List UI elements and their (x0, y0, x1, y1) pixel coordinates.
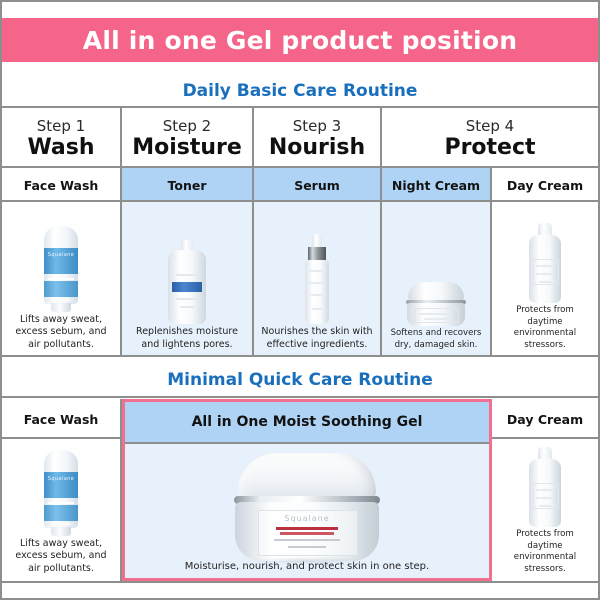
product-name-night-cream: Night Cream (382, 168, 492, 202)
minimal-routine-heading: Minimal Quick Care Routine (2, 364, 598, 398)
daily-routine-heading: Daily Basic Care Routine (2, 76, 598, 108)
daily-section-bottom-divider (2, 355, 598, 357)
day-cream-bottle-icon (529, 223, 561, 303)
step-name-3: Nourish (269, 135, 365, 161)
step-number-2: Step 2 (163, 117, 211, 135)
product-image-slot (492, 439, 598, 529)
face-wash-tube-icon: Squalane (44, 226, 78, 312)
page-title: All in one Gel product position (83, 26, 517, 55)
product-name-day-cream: Day Cream (492, 168, 598, 202)
title-banner: All in one Gel product position (2, 18, 598, 62)
product-cell-day-cream: Protects from daytime environmental stre… (492, 202, 598, 357)
day-cream-bottle-icon (529, 447, 561, 527)
step-name-4: Protect (444, 135, 535, 161)
step-number-4: Step 4 (466, 117, 514, 135)
product-name-serum: Serum (254, 168, 382, 202)
product-image-slot (492, 202, 598, 305)
product-name-label: Toner (168, 178, 207, 193)
product-name-toner: Toner (122, 168, 254, 202)
all-in-one-gel-body: Squalane Moisturise, nourish, and protec… (125, 444, 489, 580)
minimal-section-bottom-divider (2, 581, 598, 583)
step-cell-2: Step 2 Moisture (122, 108, 254, 168)
product-name-label: Night Cream (392, 178, 480, 193)
product-image-slot (382, 202, 490, 328)
product-caption-night-cream: Softens and recovers dry, damaged skin. (382, 328, 490, 351)
daily-routine-heading-label: Daily Basic Care Routine (183, 81, 418, 101)
product-caption-day-cream: Protects from daytime environmental stre… (492, 305, 598, 351)
all-in-one-gel-jar-icon: Squalane (232, 453, 382, 561)
product-name-label: Day Cream (507, 412, 583, 427)
face-wash-tube-icon: Squalane (44, 450, 78, 536)
minimal-name-face-wash: Face Wash (2, 399, 122, 439)
all-in-one-gel-title: All in One Moist Soothing Gel (125, 402, 489, 444)
product-cell-toner: Replenishes moisture and lightens pores. (122, 202, 254, 357)
infographic-root: All in one Gel product position Daily Ba… (0, 0, 600, 600)
all-in-one-gel-title-label: All in One Moist Soothing Gel (192, 414, 423, 430)
step-number-1: Step 1 (37, 117, 85, 135)
product-caption-face-wash: Lifts away sweat, excess sebum, and air … (2, 314, 120, 352)
step-cell-4: Step 4 Protect (382, 108, 598, 168)
step-name-2: Moisture (132, 135, 242, 161)
minimal-cell-face-wash: Squalane Lifts away sweat, excess sebum,… (2, 439, 122, 581)
minimal-name-day-cream: Day Cream (492, 399, 598, 439)
product-caption-serum: Nourishes the skin with effective ingred… (254, 326, 380, 351)
minimal-caption-day-cream: Protects from daytime environmental stre… (492, 529, 598, 575)
step-name-1: Wash (27, 135, 94, 161)
product-image-slot: Squalane (2, 202, 120, 314)
minimal-caption-face-wash: Lifts away sweat, excess sebum, and air … (2, 538, 120, 576)
step-cell-3: Step 3 Nourish (254, 108, 382, 168)
minimal-cell-day-cream: Protects from daytime environmental stre… (492, 439, 598, 581)
product-image-slot: Squalane (2, 439, 120, 538)
product-cell-night-cream: Softens and recovers dry, damaged skin. (382, 202, 492, 357)
night-cream-jar-icon (406, 282, 466, 326)
product-name-label: Face Wash (24, 412, 99, 427)
product-cell-serum: Nourishes the skin with effective ingred… (254, 202, 382, 357)
product-cell-face-wash: Squalane Lifts away sweat, excess sebum,… (2, 202, 122, 357)
all-in-one-gel-highlight-box: All in One Moist Soothing Gel Squalane M… (122, 399, 492, 581)
toner-bottle-icon (168, 240, 206, 324)
product-image-slot (122, 202, 252, 326)
minimal-routine-heading-label: Minimal Quick Care Routine (167, 370, 433, 390)
product-name-face-wash: Face Wash (2, 168, 122, 202)
product-name-label: Serum (294, 178, 340, 193)
step-number-3: Step 3 (293, 117, 341, 135)
product-name-label: Face Wash (24, 178, 99, 193)
product-image-slot (254, 202, 380, 326)
product-name-label: Day Cream (507, 178, 583, 193)
product-caption-toner: Replenishes moisture and lightens pores. (122, 326, 252, 351)
step-cell-1: Step 1 Wash (2, 108, 122, 168)
serum-pump-bottle-icon (304, 234, 330, 324)
